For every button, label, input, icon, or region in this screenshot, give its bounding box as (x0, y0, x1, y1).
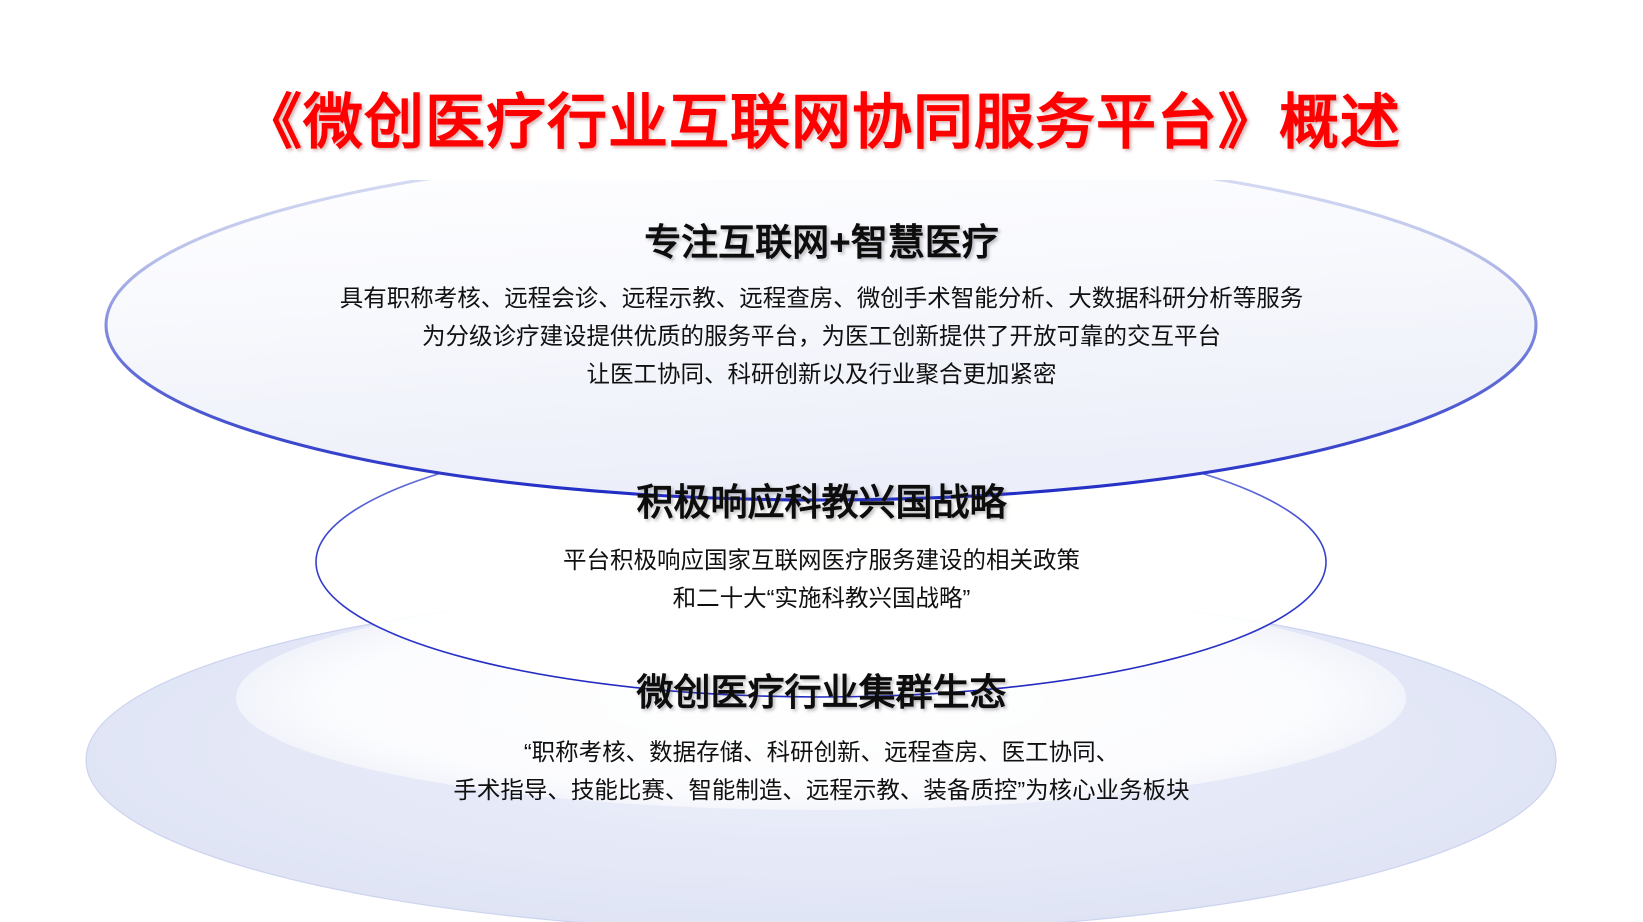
tier-1-line-1: 具有职称考核、远程会诊、远程示教、远程查房、微创手术智能分析、大数据科研分析等服… (0, 279, 1643, 317)
tier-1-line-2: 为分级诊疗建设提供优质的服务平台，为医工创新提供了开放可靠的交互平台 (0, 317, 1643, 355)
tier-1-line-3: 让医工协同、科研创新以及行业聚合更加紧密 (0, 355, 1643, 393)
slide-canvas: 《微创医疗行业互联网协同服务平台》概述 (0, 0, 1643, 922)
tier-1-body: 具有职称考核、远程会诊、远程示教、远程查房、微创手术智能分析、大数据科研分析等服… (0, 279, 1643, 393)
tier-3-content: 微创医疗行业集群生态 “职称考核、数据存储、科研创新、远程查房、医工协同、 手术… (0, 672, 1643, 809)
tier-2-heading: 积极响应科教兴国战略 (0, 482, 1643, 525)
tier-2-line-1: 平台积极响应国家互联网医疗服务建设的相关政策 (0, 541, 1643, 579)
tier-3-line-1: “职称考核、数据存储、科研创新、远程查房、医工协同、 (0, 733, 1643, 771)
tier-2-body: 平台积极响应国家互联网医疗服务建设的相关政策 和二十大“实施科教兴国战略” (0, 541, 1643, 617)
tier-1-heading: 专注互联网+智慧医疗 (0, 222, 1643, 265)
tier-1-content: 专注互联网+智慧医疗 具有职称考核、远程会诊、远程示教、远程查房、微创手术智能分… (0, 222, 1643, 393)
tier-3-heading: 微创医疗行业集群生态 (0, 672, 1643, 715)
page-title: 《微创医疗行业互联网协同服务平台》概述 (0, 74, 1643, 161)
tier-3-body: “职称考核、数据存储、科研创新、远程查房、医工协同、 手术指导、技能比赛、智能制… (0, 733, 1643, 809)
tier-2-line-2: 和二十大“实施科教兴国战略” (0, 579, 1643, 617)
tier-3-line-2: 手术指导、技能比赛、智能制造、远程示教、装备质控”为核心业务板块 (0, 771, 1643, 809)
tier-2-content: 积极响应科教兴国战略 平台积极响应国家互联网医疗服务建设的相关政策 和二十大“实… (0, 482, 1643, 617)
